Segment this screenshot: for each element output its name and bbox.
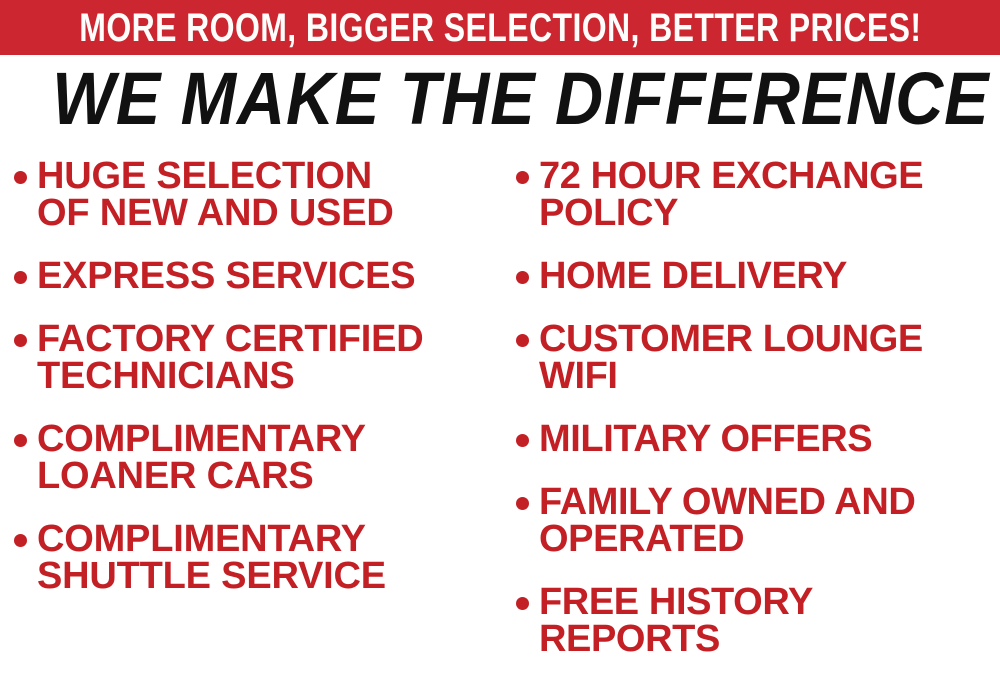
headline: WE MAKE THE DIFFERENCE xyxy=(0,62,1000,136)
bullet-dot-icon xyxy=(516,334,529,347)
bullet-dot-icon xyxy=(516,271,529,284)
list-item: FACTORY CERTIFIED TECHNICIANS xyxy=(14,321,494,395)
list-item: COMPLIMENTARY LOANER CARS xyxy=(14,421,494,495)
list-item: 72 HOUR EXCHANGE POLICY xyxy=(516,158,996,232)
bullet-dot-icon xyxy=(516,597,529,610)
bullet-dot-icon xyxy=(14,434,27,447)
list-item: HOME DELIVERY xyxy=(516,258,996,295)
list-item-label: COMPLIMENTARY SHUTTLE SERVICE xyxy=(37,521,386,595)
list-item-label: HOME DELIVERY xyxy=(539,258,847,295)
list-item: HUGE SELECTION OF NEW AND USED xyxy=(14,158,494,232)
promo-banner-text: MORE ROOM, BIGGER SELECTION, BETTER PRIC… xyxy=(79,8,921,48)
list-item: CUSTOMER LOUNGE WIFI xyxy=(516,321,996,395)
list-item: FREE HISTORY REPORTS xyxy=(516,584,996,658)
list-item-label: MILITARY OFFERS xyxy=(539,421,872,458)
bullet-dot-icon xyxy=(14,334,27,347)
list-item: FAMILY OWNED AND OPERATED xyxy=(516,484,996,558)
list-item-label: 72 HOUR EXCHANGE POLICY xyxy=(539,158,923,232)
list-item-label: CUSTOMER LOUNGE WIFI xyxy=(539,321,923,395)
bullet-dot-icon xyxy=(516,171,529,184)
feature-column-left: HUGE SELECTION OF NEW AND USED EXPRESS S… xyxy=(14,158,494,621)
list-item-label: HUGE SELECTION OF NEW AND USED xyxy=(37,158,394,232)
feature-column-right: 72 HOUR EXCHANGE POLICY HOME DELIVERY CU… xyxy=(516,158,996,684)
page-title: WE MAKE THE DIFFERENCE xyxy=(52,62,989,136)
list-item-label: FACTORY CERTIFIED TECHNICIANS xyxy=(37,321,424,395)
bullet-dot-icon xyxy=(14,271,27,284)
list-item: MILITARY OFFERS xyxy=(516,421,996,458)
list-item: EXPRESS SERVICES xyxy=(14,258,494,295)
bullet-dot-icon xyxy=(516,497,529,510)
list-item-label: EXPRESS SERVICES xyxy=(37,258,415,295)
promo-banner: MORE ROOM, BIGGER SELECTION, BETTER PRIC… xyxy=(0,0,1000,55)
bullet-dot-icon xyxy=(14,171,27,184)
list-item-label: FAMILY OWNED AND OPERATED xyxy=(539,484,915,558)
bullet-dot-icon xyxy=(516,434,529,447)
bullet-dot-icon xyxy=(14,534,27,547)
feature-columns: HUGE SELECTION OF NEW AND USED EXPRESS S… xyxy=(0,158,1000,678)
list-item-label: COMPLIMENTARY LOANER CARS xyxy=(37,421,366,495)
list-item: COMPLIMENTARY SHUTTLE SERVICE xyxy=(14,521,494,595)
list-item-label: FREE HISTORY REPORTS xyxy=(539,584,813,658)
